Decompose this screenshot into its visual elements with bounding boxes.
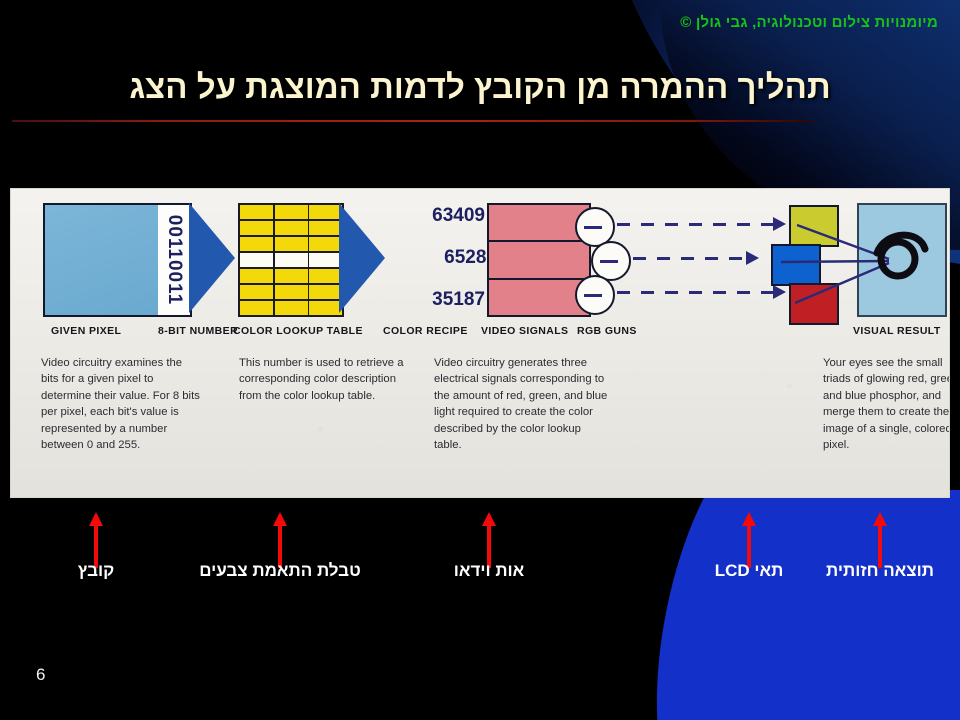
figure-caption-4: Your eyes see the small triads of glowin…	[823, 355, 950, 453]
signal-dashed-line	[617, 291, 777, 294]
callout-lut: טבלת התאמת צבעים	[200, 512, 360, 602]
bit-number-value: 00110011	[163, 215, 185, 305]
copyright-notice: מיומנויות צילום וטכנולוגיה, גבי גולן ©	[680, 14, 938, 31]
lut-cell	[275, 237, 308, 251]
title-divider	[12, 120, 812, 122]
figure-label-rgb-guns: RGB GUNS	[577, 325, 637, 337]
video-signal-band	[489, 242, 589, 279]
slide-title: תהליך ההמרה מן הקובץ לדמות המוצגת על הצג	[0, 68, 960, 106]
lut-cell-highlighted	[275, 253, 308, 267]
bit-number-strip: 00110011	[158, 203, 192, 317]
video-signal-band	[489, 205, 589, 242]
given-pixel-swatch	[43, 203, 164, 317]
lut-cell	[309, 285, 342, 299]
recipe-value-blue: 35187	[432, 289, 485, 311]
conversion-diagram: 00110011 63409 65280 35187	[10, 188, 950, 498]
lut-cell	[309, 269, 342, 283]
callout-file: קובץ	[16, 512, 176, 602]
video-signal-band	[489, 280, 589, 315]
arrow-lut-to-recipe-icon	[339, 203, 385, 313]
arrow-pixel-to-lut-icon	[189, 203, 235, 313]
lut-cell	[275, 301, 308, 315]
lut-cell-highlighted	[309, 253, 342, 267]
lut-cell	[275, 285, 308, 299]
lut-cell	[309, 301, 342, 315]
lut-cell	[240, 285, 273, 299]
eye-symbol-icon	[869, 219, 933, 291]
lut-cell	[240, 237, 273, 251]
figure-label-visual-result: VISUAL RESULT	[853, 325, 941, 337]
signal-dashed-line	[633, 257, 749, 260]
page-number: 6	[36, 665, 45, 685]
slide-canvas: מיומנויות צילום וטכנולוגיה, גבי גולן © ת…	[0, 0, 960, 720]
lut-cell	[240, 269, 273, 283]
figure-label-8-bit-number: 8-BIT NUMBER	[158, 325, 238, 337]
signal-dashed-line	[617, 223, 777, 226]
lut-cell-highlighted	[240, 253, 273, 267]
callout-label: טבלת התאמת צבעים	[199, 560, 361, 582]
figure-caption-3: Video circuitry generates three electric…	[434, 355, 610, 453]
figure-label-video-signals: VIDEO SIGNALS	[481, 325, 568, 337]
lut-cell	[240, 301, 273, 315]
figure-label-color-recipe: COLOR RECIPE	[383, 325, 468, 337]
callout-label: קובץ	[78, 560, 115, 582]
figure-label-given-pixel: GIVEN PIXEL	[51, 325, 121, 337]
callout-label: תוצאה חזותית	[826, 560, 934, 582]
signal-arrowhead-icon	[746, 251, 759, 265]
recipe-value-red: 63409	[432, 205, 485, 227]
figure-caption-1: Video circuitry examines the bits for a …	[41, 355, 201, 453]
lut-cell	[240, 205, 273, 219]
lut-cell	[309, 205, 342, 219]
lut-cell	[309, 221, 342, 235]
lut-cell	[275, 269, 308, 283]
callout-label: תאי LCD	[715, 560, 784, 582]
callout-visual-result: תוצאה חזותית	[800, 512, 960, 602]
callout-label: אות וידאו	[454, 560, 525, 582]
color-recipe-values: 63409 65280 35187	[385, 205, 485, 313]
lut-cell	[309, 237, 342, 251]
color-lookup-table-grid	[238, 203, 344, 317]
figure-caption-2: This number is used to retrieve a corres…	[239, 355, 409, 404]
figure-label-color-lookup-table: COLOR LOOKUP TABLE	[233, 325, 363, 337]
callout-video-signal: אות וידאו	[409, 512, 569, 602]
lut-cell	[275, 205, 308, 219]
lut-cell	[240, 221, 273, 235]
rgb-gun-icon	[575, 275, 615, 315]
lut-cell	[275, 221, 308, 235]
